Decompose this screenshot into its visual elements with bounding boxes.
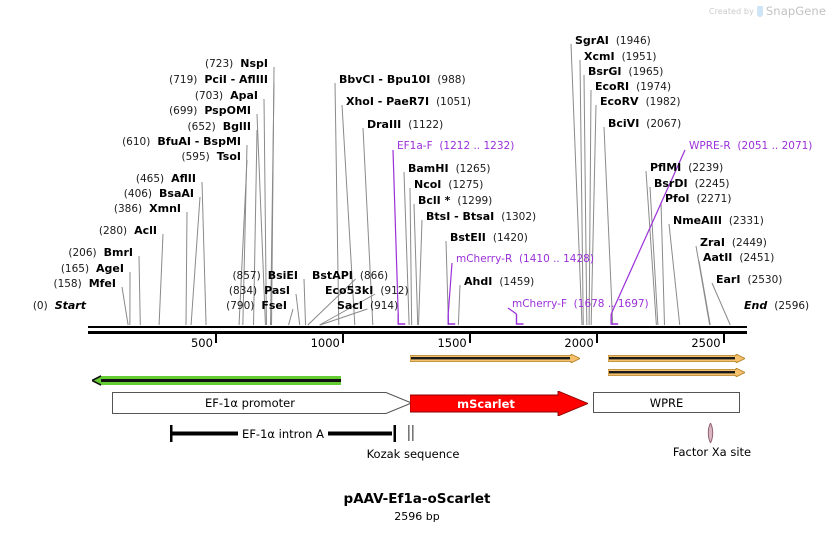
feature-label-ef1a-promoter: EF-1α promoter xyxy=(112,392,388,414)
site-label-BsiEI: (857) BsiEI xyxy=(232,270,298,282)
ruler-tick xyxy=(215,334,217,343)
site-label-EcoRI: EcoRI (1974) xyxy=(595,81,671,93)
site-name: DraIII xyxy=(367,118,401,131)
site-label-BmrI: (206) BmrI xyxy=(68,247,133,259)
site-name: FseI xyxy=(261,299,287,312)
site-name: AflII xyxy=(171,172,196,185)
site-position: (1051) xyxy=(436,96,471,108)
leader-EcoRV xyxy=(591,105,596,325)
primer-bracket-WPRE-R xyxy=(611,314,618,324)
leader-BsaAI xyxy=(191,197,200,325)
site-label-AflII: (465) AflII xyxy=(136,173,196,185)
leader-FseI xyxy=(289,309,293,325)
site-label-BstEII: BstEII (1420) xyxy=(450,232,528,244)
leader-NcoI xyxy=(410,188,412,325)
site-label-BciVI: BciVI (2067) xyxy=(608,118,681,130)
site-name: PflMI xyxy=(650,161,681,174)
site-position: (406) xyxy=(124,188,152,200)
site-position: (1965) xyxy=(628,66,663,78)
leader-BclI xyxy=(414,204,418,325)
subfeature-ef1a-intron-a[interactable]: EF-1α intron A xyxy=(170,425,396,442)
site-name: PciI - AflIII xyxy=(204,73,268,86)
leader-EcoRI xyxy=(589,90,591,325)
site-name: BsaAI xyxy=(159,187,194,200)
site-name: AclI xyxy=(134,224,157,237)
site-label-TsoI: (595) TsoI xyxy=(182,151,241,163)
site-position: (2449) xyxy=(732,237,767,249)
primer-label-mCherry-R: mCherry-R (1410 .. 1428) xyxy=(456,254,594,265)
leader-EarI xyxy=(712,283,730,325)
site-label-BbvCI: BbvCI - Bpu10I (988) xyxy=(339,74,466,86)
snapgene-watermark: Created by SnapGene xyxy=(709,4,826,18)
subfeature-label-factor-xa-site: Factor Xa site xyxy=(652,445,772,459)
site-label-ZraI: ZraI (2449) xyxy=(700,237,767,249)
site-name: BfuAI - BspMI xyxy=(157,135,241,148)
site-name: NspI xyxy=(240,57,268,70)
orf-arrow xyxy=(410,354,580,363)
site-position: (465) xyxy=(136,173,164,185)
site-label-BfuAI: (610) BfuAI - BspMI xyxy=(122,136,241,148)
feature-label-mscarlet: mScarlet xyxy=(410,391,562,416)
site-label-DraIII: DraIII (1122) xyxy=(367,119,443,131)
snapgene-logo-icon xyxy=(757,6,763,17)
site-label-AgeI: (165) AgeI xyxy=(61,263,124,275)
site-position: (2530) xyxy=(747,274,782,286)
site-position: (1974) xyxy=(636,81,671,93)
site-label-SacI: SacI (914) xyxy=(337,300,398,312)
leader-XcmI xyxy=(580,60,583,325)
site-position: (988) xyxy=(437,74,465,86)
plasmid-length: 2596 bp xyxy=(0,510,834,523)
site-position: (1299) xyxy=(457,195,492,207)
site-label-NspI: (723) NspI xyxy=(205,58,268,70)
site-name: NmeAIII xyxy=(673,214,722,227)
site-label-NcoI: NcoI (1275) xyxy=(414,179,483,191)
site-name: BstAPI xyxy=(312,269,353,282)
leader-AatII xyxy=(699,261,710,325)
leader-AflII xyxy=(202,182,206,325)
site-name: EcoRV xyxy=(600,95,639,108)
site-position: (1946) xyxy=(616,35,651,47)
leader-PasI xyxy=(296,294,300,325)
primer-range: (1410 .. 1428) xyxy=(519,253,594,265)
site-name: SacI xyxy=(337,299,363,312)
ruler-tick-label: 1000 xyxy=(308,336,340,350)
primer-bracket-mCherry-F xyxy=(517,314,524,324)
leader-BsiEI xyxy=(304,279,306,325)
site-position: (1951) xyxy=(622,51,657,63)
orf-arrow xyxy=(608,354,745,363)
site-position: (790) xyxy=(226,300,254,312)
site-position: (610) xyxy=(122,136,150,148)
site-name: EcoRI xyxy=(595,80,629,93)
site-label-AclI: (280) AclI xyxy=(99,225,157,237)
site-label-ApaI: (703) ApaI xyxy=(195,90,258,102)
site-label-PasI: (834) PasI xyxy=(229,285,290,297)
site-name: EarI xyxy=(716,273,740,286)
site-position: (1122) xyxy=(408,119,443,131)
primer-leader-WPRE-R xyxy=(611,150,685,314)
site-position: (2239) xyxy=(688,162,723,174)
ruler-tick xyxy=(723,334,725,343)
site-name: BsiEI xyxy=(268,269,298,282)
site-label-XhoI: XhoI - PaeR7I (1051) xyxy=(346,96,471,108)
site-position: (0) xyxy=(33,300,48,312)
site-label-BsrDI: BsrDI (2245) xyxy=(654,178,730,190)
ruler-tick xyxy=(596,334,598,343)
site-name: BstEII xyxy=(450,231,486,244)
site-position: (386) xyxy=(114,203,142,215)
site-position: (699) xyxy=(169,105,197,117)
site-label-XcmI: XcmI (1951) xyxy=(584,51,656,63)
site-position: (1275) xyxy=(448,179,483,191)
site-name: NcoI xyxy=(414,178,441,191)
site-label-XmnI: (386) XmnI xyxy=(114,203,181,215)
site-label-BamHI: BamHI (1265) xyxy=(408,163,491,175)
site-name: BtsI - BtsaI xyxy=(426,210,494,223)
site-name: Start xyxy=(55,299,86,312)
site-position: (914) xyxy=(370,300,398,312)
leader-PfoI xyxy=(661,202,664,325)
site-position: (1265) xyxy=(456,163,491,175)
ruler-tick xyxy=(469,334,471,343)
site-name: PspOMI xyxy=(204,104,251,117)
site-label-BsrGI: BsrGI (1965) xyxy=(588,66,663,78)
leader-BsrGI xyxy=(584,75,587,325)
site-label-PflMI: PflMI (2239) xyxy=(650,162,723,174)
site-name: PfoI xyxy=(665,192,690,205)
leader-BstEII xyxy=(446,241,448,325)
primer-leader-mCherry-R xyxy=(448,263,452,314)
site-name: BamHI xyxy=(408,162,449,175)
site-name: BglII xyxy=(223,120,251,133)
primer-range: (2051 .. 2071) xyxy=(737,140,812,152)
site-label-PciI: (719) PciI - AflIII xyxy=(169,74,268,86)
site-name: AgeI xyxy=(96,262,124,275)
site-position: (652) xyxy=(188,121,216,133)
subfeature-label-ef1a-intron-a: EF-1α intron A xyxy=(238,427,328,441)
primer-name: EF1a-F xyxy=(397,140,433,152)
site-label-AatII: AatII (2451) xyxy=(703,252,774,264)
primer-label-mCherry-F: mCherry-F (1678 .. 1697) xyxy=(512,299,649,310)
primer-name: mCherry-R xyxy=(456,253,512,265)
primer-bracket-EF1a-F xyxy=(398,314,405,324)
site-label-NmeAIII: NmeAIII (2331) xyxy=(673,215,764,227)
primer-label-EF1a-F: EF1a-F (1212 .. 1232) xyxy=(397,141,514,152)
ruler-tick-label: 1500 xyxy=(435,336,467,350)
primer-range: (1212 .. 1232) xyxy=(439,140,514,152)
site-position: (1982) xyxy=(646,96,681,108)
site-name: Eco53kI xyxy=(325,284,373,297)
site-name: BciVI xyxy=(608,117,639,130)
ruler-tick-label: 2500 xyxy=(689,336,721,350)
site-name: AatII xyxy=(703,251,732,264)
site-name: End xyxy=(744,299,767,312)
leader-BsrDI xyxy=(650,187,658,325)
primer-range: (1678 .. 1697) xyxy=(574,298,649,310)
site-position: (912) xyxy=(380,285,408,297)
ruler-tick-label: 2000 xyxy=(562,336,594,350)
leader-MfeI xyxy=(122,287,128,325)
site-label-FseI: (790) FseI xyxy=(226,300,287,312)
site-name: TsoI xyxy=(217,150,241,163)
site-position: (866) xyxy=(360,270,388,282)
site-name: BbvCI - Bpu10I xyxy=(339,73,430,86)
site-label-PspOMI: (699) PspOMI xyxy=(169,105,251,117)
site-label-MfeI: (158) MfeI xyxy=(53,278,116,290)
site-name: XhoI - PaeR7I xyxy=(346,95,429,108)
leader-BciVI xyxy=(604,127,613,325)
site-name: ApaI xyxy=(230,89,258,102)
primer-name: mCherry-F xyxy=(512,298,567,310)
site-position: (595) xyxy=(182,151,210,163)
plasmid-title: pAAV-Ef1a-oScarlet 2596 bp xyxy=(0,491,834,523)
site-name: SgrAI xyxy=(575,34,609,47)
plasmid-map-canvas: Created by SnapGene 5001000150020002500K… xyxy=(0,0,834,534)
site-name: BsrDI xyxy=(654,177,688,190)
site-position: (2067) xyxy=(646,118,681,130)
primer-label-WPRE-R: WPRE-R (2051 .. 2071) xyxy=(689,141,812,152)
site-position: (1420) xyxy=(493,232,528,244)
site-label-end: End (2596) xyxy=(744,300,809,312)
site-name: AhdI xyxy=(464,275,492,288)
site-label-BglII: (652) BglII xyxy=(188,121,251,133)
site-position: (2596) xyxy=(774,300,809,312)
site-name: XmnI xyxy=(149,202,181,215)
site-position: (2271) xyxy=(697,193,732,205)
site-label-AhdI: AhdI (1459) xyxy=(464,276,534,288)
site-name: XcmI xyxy=(584,50,615,63)
backbone-line-top xyxy=(88,326,747,328)
site-position: (2331) xyxy=(729,215,764,227)
leader-BtsI xyxy=(419,220,422,325)
site-position: (2245) xyxy=(695,178,730,190)
feature-wpre[interactable]: WPRE xyxy=(593,392,740,413)
site-position: (1302) xyxy=(501,211,536,223)
leader-BfuAI xyxy=(243,145,247,325)
feature-mscarlet[interactable]: mScarlet xyxy=(410,391,588,416)
site-position: (723) xyxy=(205,58,233,70)
backbone-line-bottom xyxy=(88,331,747,334)
site-name: BclI * xyxy=(418,194,450,207)
subfeature-label-kozak-sequence: Kozak sequence xyxy=(353,447,473,461)
leader-BmrI xyxy=(139,256,140,325)
site-label-SgrAI: SgrAI (1946) xyxy=(575,35,651,47)
subfeature-kozak-sequence[interactable] xyxy=(408,425,415,441)
plasmid-name: pAAV-Ef1a-oScarlet xyxy=(0,491,834,507)
site-label-start: (0) Start xyxy=(33,300,86,312)
site-label-Eco53kI: Eco53kI (912) xyxy=(325,285,409,297)
site-position: (2451) xyxy=(739,252,774,264)
feature-label-wpre: WPRE xyxy=(650,396,684,410)
watermark-created-label: Created by xyxy=(709,7,754,16)
site-label-BclI: BclI * (1299) xyxy=(418,195,492,207)
site-position: (857) xyxy=(232,270,260,282)
leader-BamHI xyxy=(404,172,409,325)
site-label-EcoRV: EcoRV (1982) xyxy=(600,96,681,108)
subfeature-factor-xa-site[interactable] xyxy=(706,423,715,443)
site-label-BtsI: BtsI - BtsaI (1302) xyxy=(426,211,536,223)
site-label-BsaAI: (406) BsaAI xyxy=(124,188,194,200)
site-name: MfeI xyxy=(89,277,116,290)
site-position: (165) xyxy=(61,263,89,275)
feature-ef1a-promoter[interactable]: EF-1α promoter xyxy=(112,392,412,414)
site-name: BmrI xyxy=(104,246,133,259)
leader-AhdI xyxy=(458,285,460,325)
site-label-EarI: EarI (2530) xyxy=(716,274,782,286)
watermark-brand-label: SnapGene xyxy=(766,4,826,18)
primer-name: WPRE-R xyxy=(689,140,731,152)
orf-arrow xyxy=(608,368,745,377)
leader-XmnI xyxy=(186,212,187,325)
site-position: (158) xyxy=(53,278,81,290)
site-position: (280) xyxy=(99,225,127,237)
leader-AclI xyxy=(159,234,163,325)
site-position: (206) xyxy=(68,247,96,259)
site-name: PasI xyxy=(264,284,290,297)
site-position: (703) xyxy=(195,90,223,102)
ruler-tick-label: 500 xyxy=(181,336,213,350)
site-label-PfoI: PfoI (2271) xyxy=(665,193,731,205)
ruler-tick xyxy=(342,334,344,343)
leader-NmeAIII xyxy=(669,224,680,325)
primer-bracket-mCherry-R xyxy=(448,314,455,324)
reverse-green-arrow xyxy=(92,375,341,386)
site-position: (834) xyxy=(229,285,257,297)
site-label-BstAPI: BstAPI (866) xyxy=(312,270,388,282)
site-position: (719) xyxy=(169,74,197,86)
leader-SgrAI xyxy=(571,44,582,325)
site-name: BsrGI xyxy=(588,65,621,78)
site-position: (1459) xyxy=(499,276,534,288)
site-name: ZraI xyxy=(700,236,725,249)
